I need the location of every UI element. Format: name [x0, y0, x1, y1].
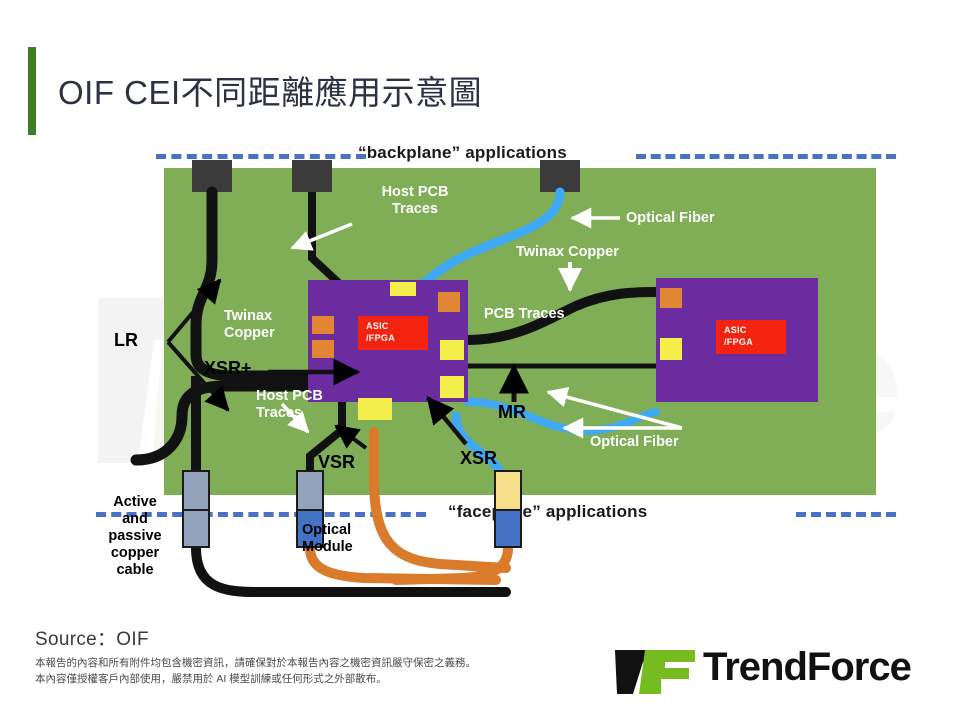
copper-cable-line2: and: [96, 511, 174, 528]
copper-cable-line1: Active: [96, 494, 174, 511]
trendforce-logo: TrendForce: [613, 648, 943, 700]
trendforce-logo-mark: [613, 648, 697, 696]
reach-label-mr: MR: [498, 404, 526, 421]
annotation-twinax-copper-left: Twinax Copper: [224, 308, 275, 342]
diagram-canvas: endForce “backplane” applications “facep…: [96, 140, 896, 620]
disclaimer-line-2: 本內容僅授權客戶內部使用，嚴禁用於 AI 模型訓練或任何形式之外部散布。: [35, 671, 476, 687]
annotation-pcb-traces: PCB Traces: [484, 306, 565, 323]
host-pcb-traces-bottom-line2: Traces: [256, 405, 323, 422]
reach-label-vsr: VSR: [318, 454, 355, 471]
annotation-optical-module: Optical Module: [302, 522, 353, 556]
annotation-optical-fiber-top: Optical Fiber: [626, 210, 715, 227]
copper-cable-line4: copper: [96, 545, 174, 562]
disclaimer-text: 本報告的內容和所有附件均包含機密資訊，請確保對於本報告內容之機密資訊嚴守保密之義…: [35, 655, 476, 687]
copper-cable-line5: cable: [96, 562, 174, 579]
twinax-copper-left-line2: Copper: [224, 325, 275, 342]
host-pcb-traces-bottom-line1: Host PCB: [256, 388, 323, 405]
optical-module-line1: Optical: [302, 522, 353, 539]
trendforce-logo-text: TrendForce: [703, 645, 911, 690]
annotation-arrow-layer: [96, 140, 896, 620]
title-accent-bar: [28, 47, 36, 135]
reach-label-xsr: XSR: [460, 450, 497, 467]
host-pcb-traces-top-line2: Traces: [360, 201, 470, 218]
disclaimer-line-1: 本報告的內容和所有附件均包含機密資訊，請確保對於本報告內容之機密資訊嚴守保密之義…: [35, 655, 476, 671]
reach-label-xsrp: XSR+: [204, 360, 252, 377]
annotation-twinax-copper-right: Twinax Copper: [516, 244, 619, 261]
page-title: OIF CEI不同距離應用示意圖: [58, 62, 818, 124]
annotation-active-passive-copper-cable: Active and passive copper cable: [96, 494, 174, 579]
annotation-optical-fiber-bottom: Optical Fiber: [590, 434, 679, 451]
annotation-host-pcb-traces-top: Host PCB Traces: [360, 184, 470, 218]
optical-module-line2: Module: [302, 539, 353, 556]
copper-cable-line3: passive: [96, 528, 174, 545]
host-pcb-traces-top-line1: Host PCB: [360, 184, 470, 201]
twinax-copper-left-line1: Twinax: [224, 308, 275, 325]
annotation-host-pcb-traces-bottom: Host PCB Traces: [256, 388, 323, 422]
slide-canvas: OIF CEI不同距離應用示意圖 endForce “backplane” ap…: [0, 0, 960, 720]
source-label: Source：OIF: [35, 624, 149, 651]
reach-label-lr: LR: [114, 332, 138, 349]
